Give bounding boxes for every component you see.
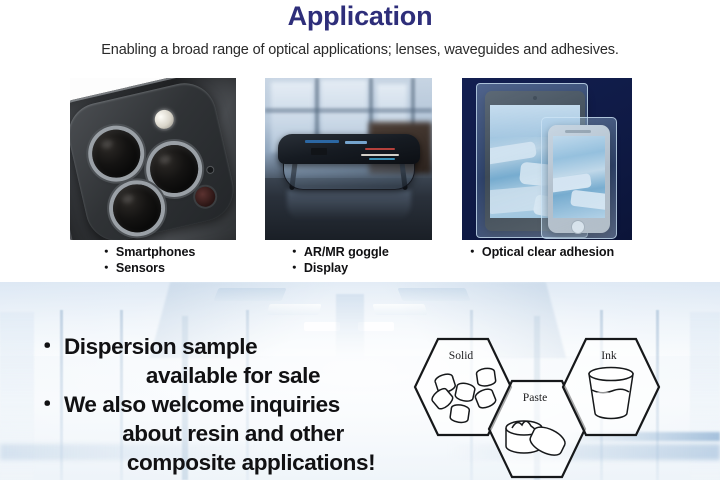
smartphone-camera-image bbox=[70, 78, 236, 240]
bottom-line: ・ We also welcome inquiries bbox=[36, 390, 408, 419]
ink-beaker-icon bbox=[589, 368, 633, 419]
photo-optical-clear-adhesion bbox=[462, 78, 632, 240]
circuit-trace bbox=[345, 141, 367, 144]
caption-line: ・ AR/MR goggle bbox=[288, 245, 389, 261]
caption-line: ・ Smartphones bbox=[100, 245, 195, 261]
camera-plateau bbox=[70, 78, 236, 240]
top-white-section: Application Enabling a broad range of op… bbox=[0, 0, 720, 282]
flash-icon bbox=[153, 108, 176, 131]
bottom-line: about resin and other bbox=[36, 419, 408, 448]
circuit-trace bbox=[305, 140, 339, 143]
desk-reflection bbox=[287, 190, 411, 220]
bottom-line: composite applications! bbox=[36, 448, 408, 477]
caption-line: ・ Sensors bbox=[100, 261, 195, 277]
circuit-trace bbox=[369, 158, 395, 160]
circuit-trace bbox=[361, 154, 399, 156]
caption-optical-clear-adhesion: ・ Optical clear adhesion bbox=[466, 245, 614, 261]
caption-line: ・ Optical clear adhesion bbox=[466, 245, 614, 261]
phone-screen-protector bbox=[541, 117, 617, 239]
photo-ar-mr-goggle bbox=[265, 78, 432, 240]
caption-line: ・ Display bbox=[288, 261, 389, 277]
bottom-line: ・ Dispersion sample bbox=[36, 332, 408, 361]
hexagon-label-solid: Solid bbox=[412, 349, 510, 362]
circuit-module bbox=[311, 148, 327, 155]
hexagon-label-paste: Paste bbox=[486, 391, 584, 404]
page-subtitle: Enabling a broad range of optical applic… bbox=[0, 42, 720, 58]
screen-protector-image bbox=[462, 78, 632, 240]
photo-smartphone-camera bbox=[70, 78, 236, 240]
bottom-line: available for sale bbox=[36, 361, 408, 390]
lidar-sensor-icon bbox=[193, 185, 217, 209]
page-title: Application bbox=[0, 1, 720, 32]
bottom-message-block: ・ Dispersion sample available for sale ・… bbox=[36, 332, 408, 477]
caption-smartphones: ・ Smartphones ・ Sensors bbox=[100, 245, 195, 276]
window-crossbar bbox=[265, 108, 432, 113]
camera-lens-icon bbox=[87, 125, 145, 183]
hexagon-label-ink: Ink bbox=[560, 349, 658, 362]
caption-ar-mr-goggle: ・ AR/MR goggle ・ Display bbox=[288, 245, 389, 276]
microphone-icon bbox=[207, 166, 214, 173]
camera-lens-icon bbox=[145, 140, 203, 198]
circuit-trace bbox=[365, 148, 395, 150]
goggle-visor bbox=[278, 134, 420, 164]
form-factor-hexagon-group: Solid Paste Ink bbox=[408, 330, 698, 480]
camera-lens-icon bbox=[108, 180, 166, 238]
ar-goggle-image bbox=[265, 78, 432, 240]
